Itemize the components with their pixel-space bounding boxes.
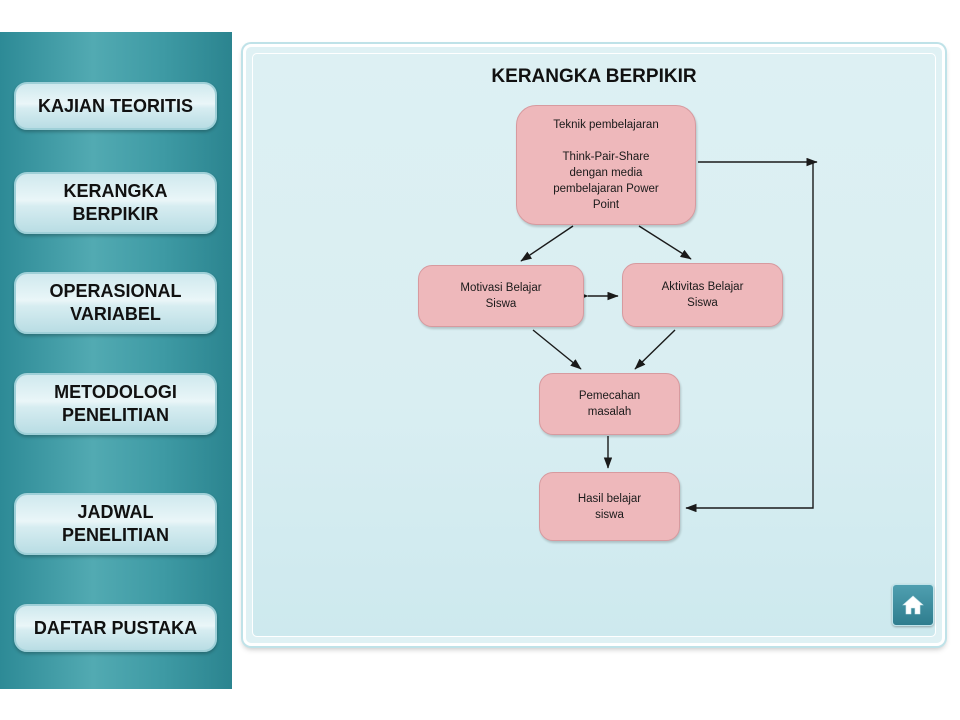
kerangka-berpikir-diagram: Teknik pembelajaran Think-Pair-Share den…	[243, 44, 945, 646]
home-button[interactable]	[892, 584, 934, 626]
sidebar-item-jadwal-penelitian[interactable]: JADWAL PENELITIAN	[14, 493, 217, 555]
node-aktivitas-belajar-siswa: Aktivitas Belajar Siswa	[622, 263, 783, 327]
top-margin	[0, 0, 960, 32]
sidebar-item-daftar-pustaka[interactable]: DAFTAR PUSTAKA	[14, 604, 217, 652]
node-pemecahan-masalah: Pemecahan masalah	[539, 373, 680, 435]
node-label: Pemecahan masalah	[579, 388, 640, 420]
sidebar-item-label: DAFTAR PUSTAKA	[34, 617, 197, 640]
home-icon	[901, 594, 925, 616]
slide: KAJIAN TEORITIS KERANGKA BERPIKIR OPERAS…	[0, 0, 960, 720]
node-label: Hasil belajar siswa	[578, 491, 641, 523]
sidebar-item-kajian-teoritis[interactable]: KAJIAN TEORITIS	[14, 82, 217, 130]
sidebar-item-label: KERANGKA BERPIKIR	[63, 180, 167, 226]
sidebar-item-label: KAJIAN TEORITIS	[38, 95, 193, 118]
sidebar-item-label: OPERASIONAL VARIABEL	[49, 280, 181, 326]
sidebar-item-label: JADWAL PENELITIAN	[62, 501, 169, 547]
sidebar-item-metodologi-penelitian[interactable]: METODOLOGI PENELITIAN	[14, 373, 217, 435]
sidebar-panel: KAJIAN TEORITIS KERANGKA BERPIKIR OPERAS…	[0, 32, 232, 689]
node-motivasi-belajar-siswa: Motivasi Belajar Siswa	[418, 265, 584, 327]
node-label: Motivasi Belajar Siswa	[460, 280, 541, 312]
node-label: Teknik pembelajaran Think-Pair-Share den…	[553, 117, 658, 213]
node-teknik-pembelajaran: Teknik pembelajaran Think-Pair-Share den…	[516, 105, 696, 225]
node-hasil-belajar-siswa: Hasil belajar siswa	[539, 472, 680, 541]
node-label: Aktivitas Belajar Siswa	[662, 279, 744, 311]
sidebar-item-kerangka-berpikir[interactable]: KERANGKA BERPIKIR	[14, 172, 217, 234]
sidebar-item-label: METODOLOGI PENELITIAN	[54, 381, 177, 427]
bottom-margin	[0, 689, 960, 720]
sidebar-item-operasional-variabel[interactable]: OPERASIONAL VARIABEL	[14, 272, 217, 334]
